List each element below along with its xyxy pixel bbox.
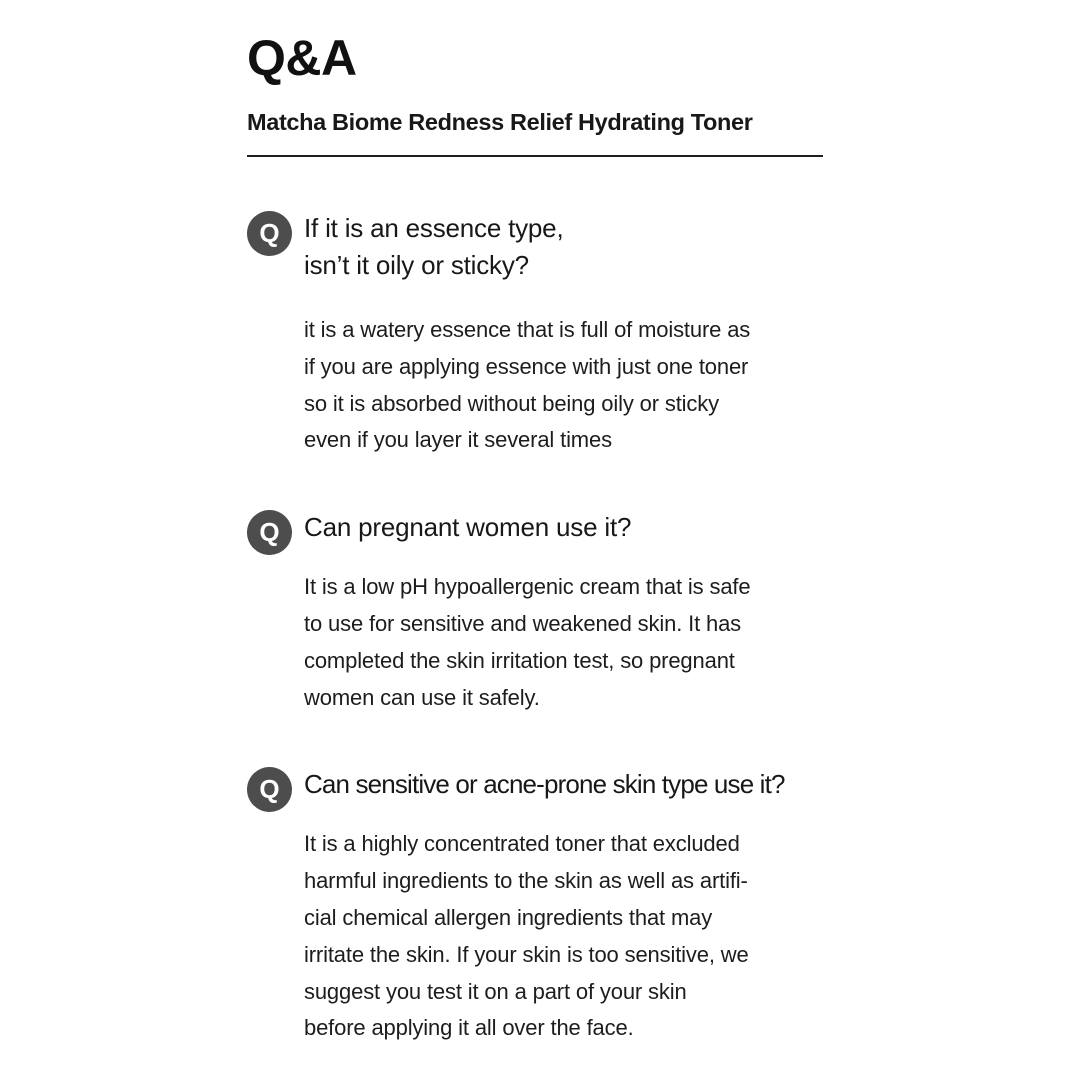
qa-page: Q&A Matcha Biome Redness Relief Hydratin… bbox=[0, 0, 1080, 1080]
question-row: Q Can pregnant women use it? bbox=[247, 507, 867, 555]
page-title: Q&A bbox=[247, 32, 847, 85]
qa-item-pregnant-women: Q Can pregnant women use it? It is a low… bbox=[247, 507, 867, 716]
page-header: Q&A Matcha Biome Redness Relief Hydratin… bbox=[247, 32, 847, 136]
question-badge-label: Q bbox=[247, 510, 292, 555]
question-text: Can pregnant women use it? bbox=[304, 507, 631, 546]
answer-text: It is a low pH hypoallergenic cream that… bbox=[304, 569, 867, 716]
product-name-subtitle: Matcha Biome Redness Relief Hydrating To… bbox=[247, 108, 847, 136]
question-badge-label: Q bbox=[247, 211, 292, 256]
question-text: Can sensitive or acne-prone skin type us… bbox=[304, 764, 785, 803]
answer-text: it is a watery essence that is full of m… bbox=[304, 312, 867, 459]
header-divider bbox=[247, 155, 823, 157]
question-text: If it is an essence type, isn’t it oily … bbox=[304, 208, 563, 284]
question-mark-icon: Q bbox=[247, 510, 292, 555]
qa-item-sensitive-acne-prone: Q Can sensitive or acne-prone skin type … bbox=[247, 764, 867, 1047]
answer-text: It is a highly concentrated toner that e… bbox=[304, 826, 867, 1047]
question-mark-icon: Q bbox=[247, 211, 292, 256]
question-row: Q Can sensitive or acne-prone skin type … bbox=[247, 764, 867, 812]
question-badge-label: Q bbox=[247, 767, 292, 812]
question-row: Q If it is an essence type, isn’t it oil… bbox=[247, 208, 867, 284]
qa-list: Q If it is an essence type, isn’t it oil… bbox=[247, 208, 867, 1047]
question-mark-icon: Q bbox=[247, 767, 292, 812]
qa-item-essence-oily-sticky: Q If it is an essence type, isn’t it oil… bbox=[247, 208, 867, 459]
